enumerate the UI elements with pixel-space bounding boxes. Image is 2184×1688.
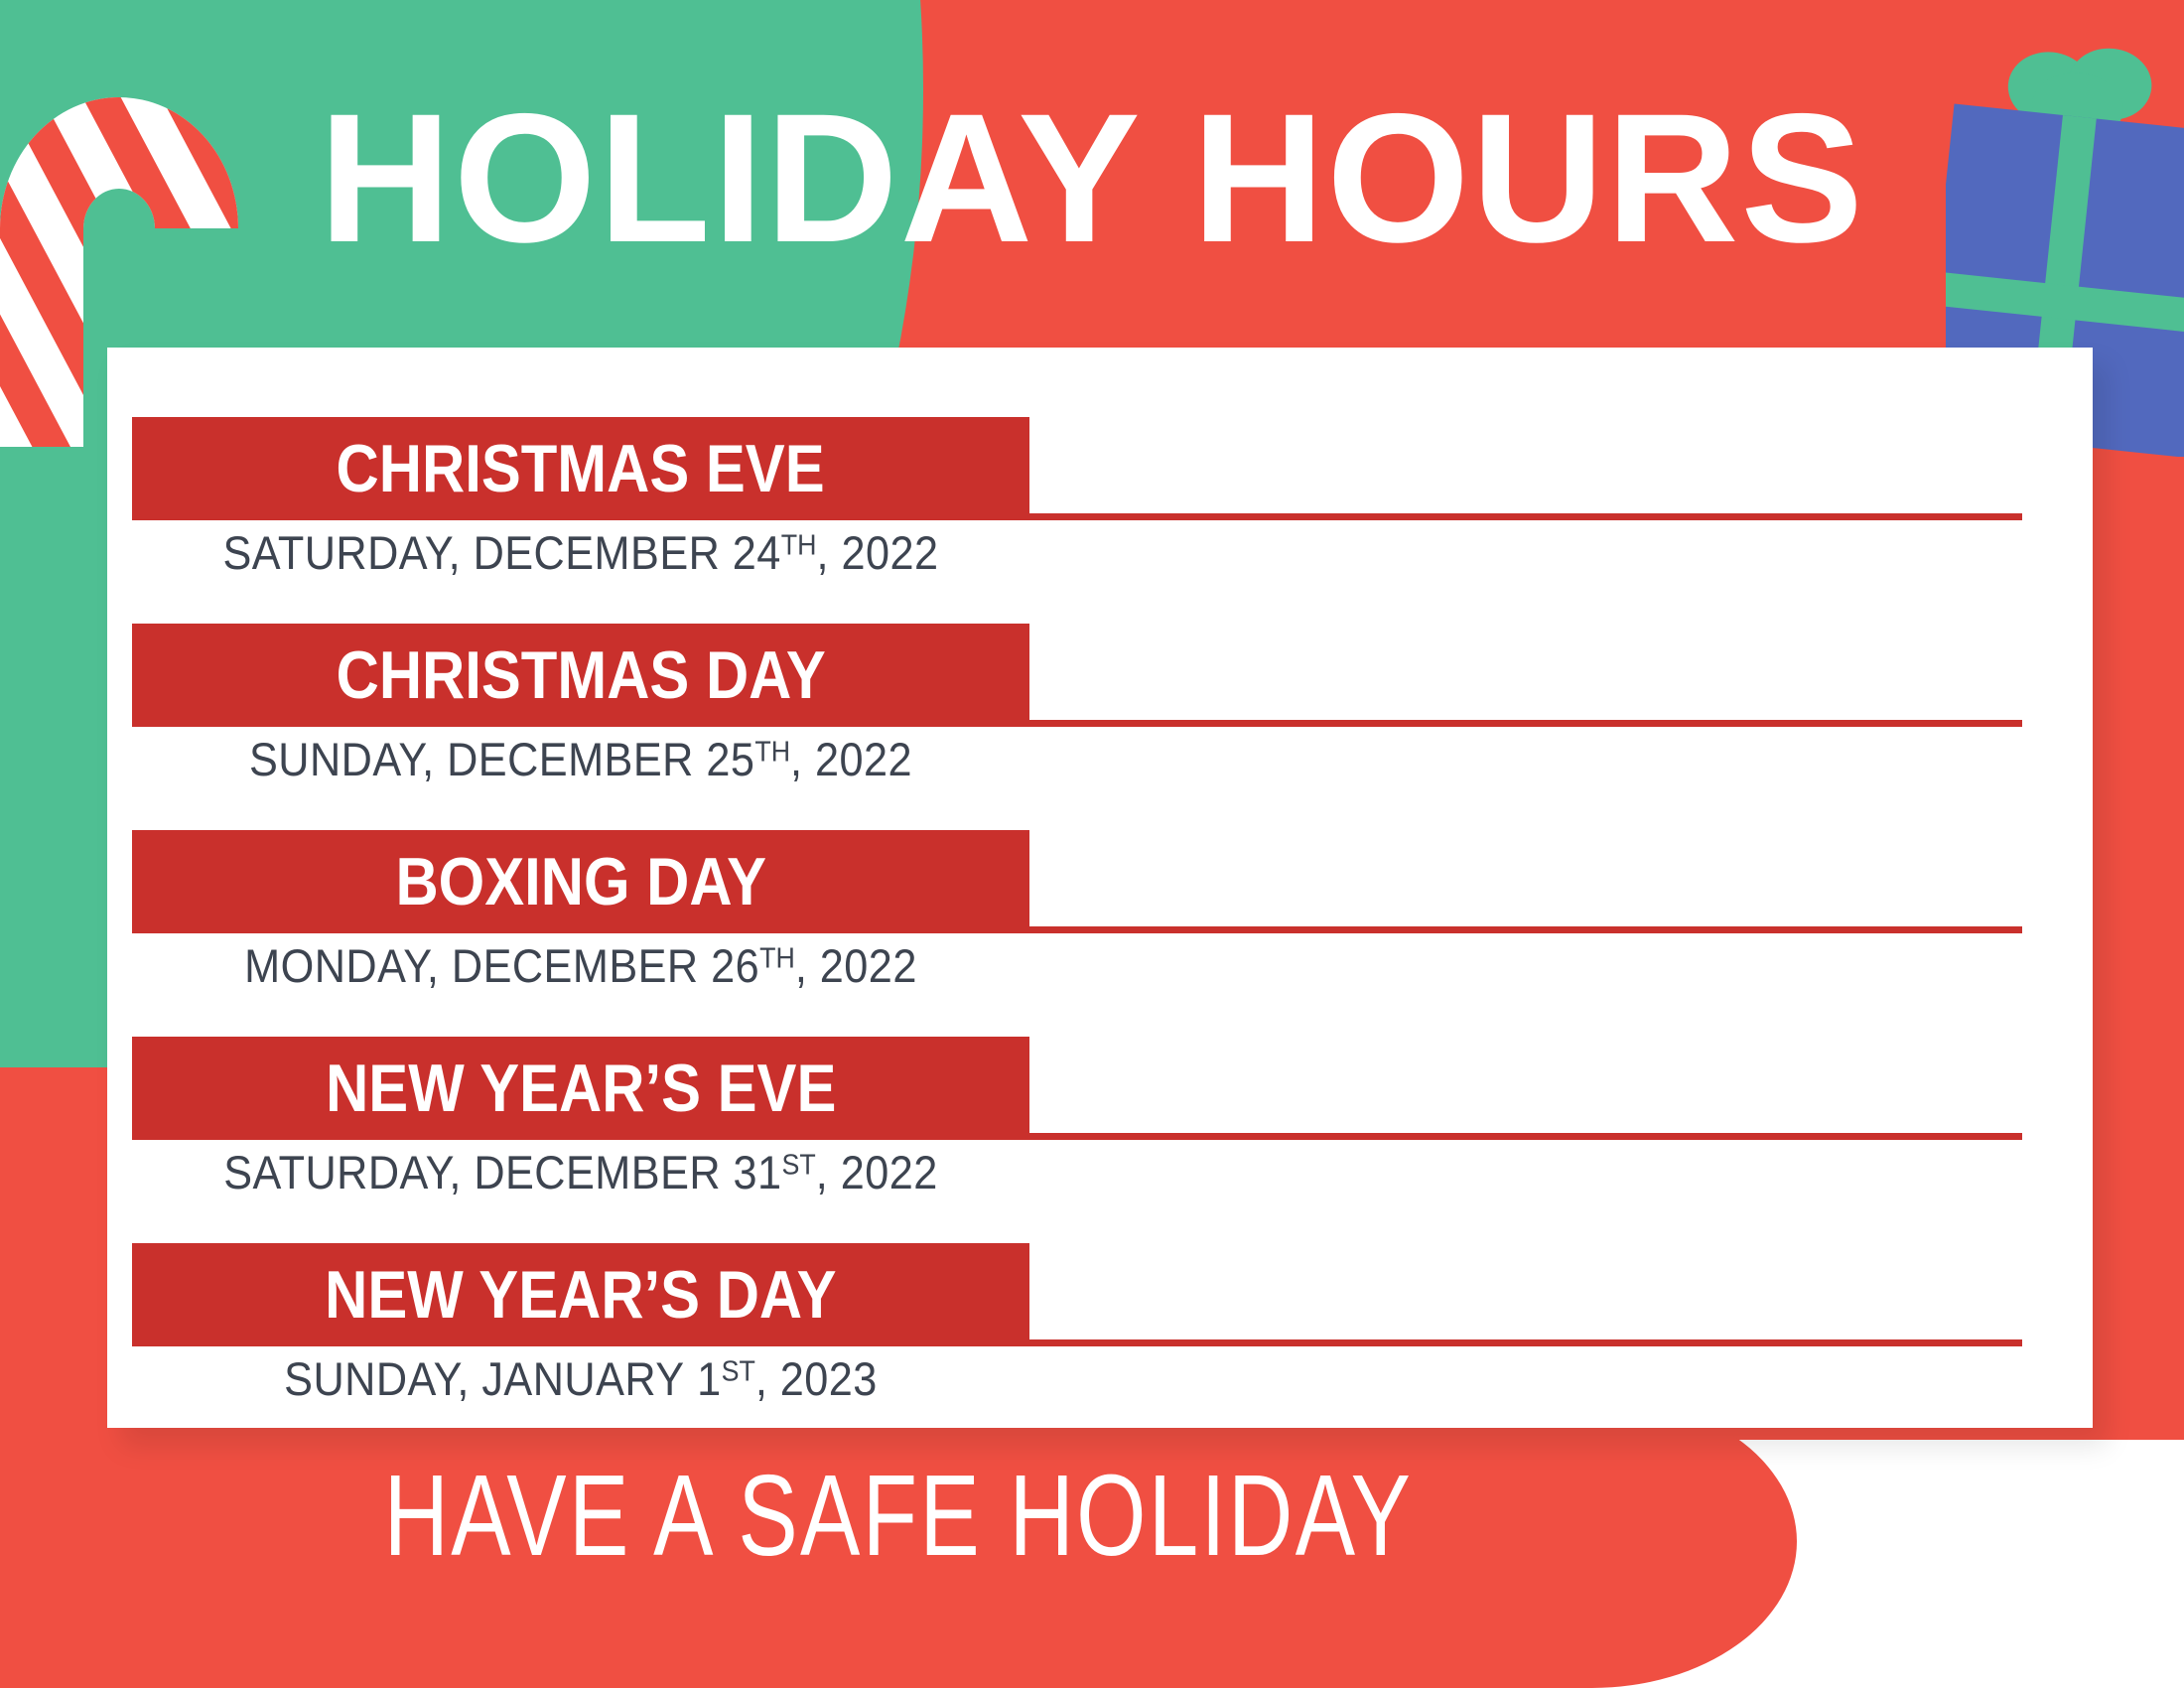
- holiday-hours-poster: HOLIDAY HOURS CHRISTMAS EVE SATURDAY, DE…: [0, 0, 2184, 1688]
- holiday-date-day: 24: [733, 526, 781, 579]
- holiday-date-ordinal: TH: [781, 529, 817, 561]
- holiday-date: SATURDAY, DECEMBER 31ST, 2022: [168, 1144, 994, 1202]
- hours-rule-line: [1029, 926, 2022, 933]
- holiday-date-month: DECEMBER: [474, 1146, 721, 1198]
- holiday-date-month: DECEMBER: [447, 733, 694, 785]
- holiday-date-sep2: ,: [790, 733, 815, 785]
- holiday-date-year: 2022: [841, 526, 938, 579]
- holiday-date-ordinal: TH: [759, 942, 795, 974]
- holiday-date: SUNDAY, JANUARY 1ST, 2023: [168, 1350, 994, 1409]
- holiday-name: NEW YEAR’S EVE: [326, 1055, 836, 1122]
- holiday-date-year: 2022: [841, 1146, 938, 1198]
- hours-rule-line: [1029, 1133, 2022, 1140]
- holiday-name-bar: NEW YEAR’S DAY: [132, 1243, 1029, 1346]
- holiday-date-month: DECEMBER: [474, 526, 721, 579]
- holiday-date-ordinal: ST: [782, 1149, 816, 1181]
- holiday-date-weekday: MONDAY: [244, 939, 427, 992]
- hours-rule-line: [1029, 720, 2022, 727]
- holiday-date-sep: ,: [449, 526, 474, 579]
- holiday-name-bar: CHRISTMAS DAY: [132, 624, 1029, 727]
- hours-rule-line: [1029, 1339, 2022, 1346]
- holiday-date-day: 31: [734, 1146, 782, 1198]
- holiday-date: MONDAY, DECEMBER 26TH, 2022: [168, 937, 994, 996]
- holiday-date-weekday: SUNDAY: [284, 1352, 457, 1405]
- schedule-card: CHRISTMAS EVE SATURDAY, DECEMBER 24TH, 2…: [107, 348, 2093, 1428]
- hours-rule-line: [1029, 513, 2022, 520]
- holiday-name-bar: CHRISTMAS EVE: [132, 417, 1029, 520]
- holiday-date-weekday: SATURDAY: [223, 1146, 449, 1198]
- holiday-date-day: 25: [706, 733, 754, 785]
- holiday-date-sep: ,: [449, 1146, 474, 1198]
- holiday-date-ordinal: ST: [722, 1355, 755, 1387]
- holiday-name: CHRISTMAS EVE: [337, 435, 825, 502]
- holiday-date-sep: ,: [422, 733, 447, 785]
- footer-message: HAVE A SAFE HOLIDAY: [198, 1458, 1599, 1573]
- holiday-date-weekday: SUNDAY: [249, 733, 422, 785]
- holiday-date-year: 2022: [820, 939, 917, 992]
- holiday-date-day: 1: [697, 1352, 722, 1405]
- holiday-date-month: DECEMBER: [452, 939, 699, 992]
- holiday-date-sep: ,: [427, 939, 452, 992]
- holiday-date: SUNDAY, DECEMBER 25TH, 2022: [168, 731, 994, 789]
- holiday-date-sep2: ,: [817, 526, 842, 579]
- schedule-rows: CHRISTMAS EVE SATURDAY, DECEMBER 24TH, 2…: [107, 348, 2093, 1428]
- holiday-date-ordinal: TH: [754, 736, 790, 768]
- holiday-date-sep2: ,: [795, 939, 820, 992]
- holiday-date-year: 2023: [780, 1352, 878, 1405]
- holiday-date-month: JANUARY: [481, 1352, 684, 1405]
- holiday-date-sep2: ,: [755, 1352, 780, 1405]
- holiday-name-bar: NEW YEAR’S EVE: [132, 1037, 1029, 1140]
- holiday-name: NEW YEAR’S DAY: [325, 1261, 836, 1329]
- holiday-name: CHRISTMAS DAY: [336, 641, 825, 709]
- page-title: HOLIDAY HOURS: [0, 87, 2184, 271]
- holiday-date-sep: ,: [457, 1352, 481, 1405]
- holiday-date-year: 2022: [815, 733, 912, 785]
- holiday-date: SATURDAY, DECEMBER 24TH, 2022: [168, 524, 994, 583]
- holiday-date-weekday: SATURDAY: [222, 526, 448, 579]
- holiday-name-bar: BOXING DAY: [132, 830, 1029, 933]
- holiday-name: BOXING DAY: [395, 848, 766, 915]
- holiday-date-day: 26: [711, 939, 759, 992]
- holiday-date-sep2: ,: [816, 1146, 841, 1198]
